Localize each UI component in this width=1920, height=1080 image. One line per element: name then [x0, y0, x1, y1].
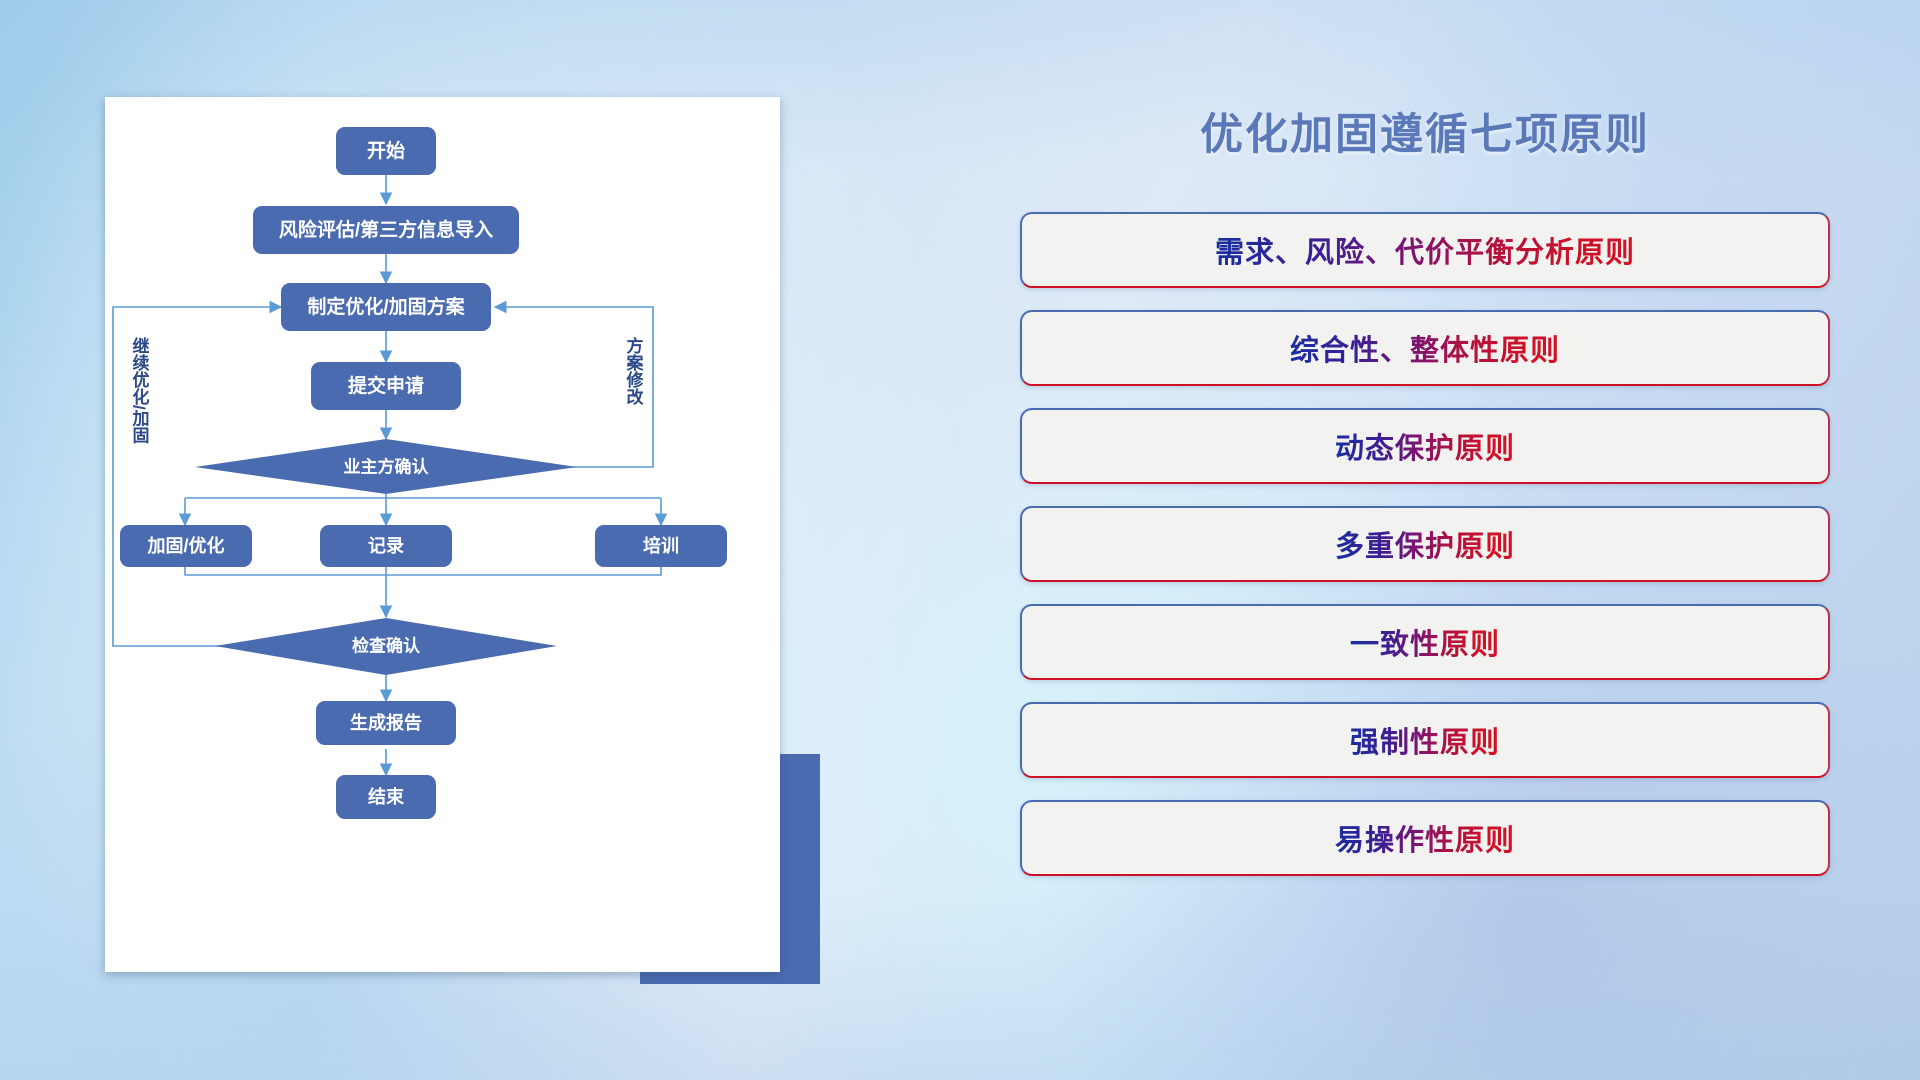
flow-node-training[interactable]: 培训 [595, 525, 727, 567]
flow-node-record[interactable]: 记录 [320, 525, 452, 567]
flow-node-risk-label: 风险评估/第三方信息导入 [279, 218, 493, 241]
principle-card[interactable]: 强制性原则 [1020, 702, 1830, 778]
flow-node-submit-label: 提交申请 [348, 374, 424, 397]
flow-node-owner-confirm-label: 业主方确认 [344, 456, 430, 476]
flow-node-reinforce[interactable]: 加固/优化 [120, 525, 252, 567]
flow-edge-label-right-loop: 方案修改 [624, 336, 645, 406]
flowchart-card: 开始 风险评估/第三方信息导入 制定优化/加固方案 提交申请 业主方确认 加固/ [105, 97, 780, 972]
flow-node-end[interactable]: 结束 [336, 775, 436, 819]
flow-node-plan-label: 制定优化/加固方案 [307, 295, 465, 318]
principle-card-label: 需求、风险、代价平衡分析原则 [1215, 229, 1635, 271]
principle-card[interactable]: 一致性原则 [1020, 604, 1830, 680]
flowchart-nodes: 开始 风险评估/第三方信息导入 制定优化/加固方案 提交申请 业主方确认 加固/ [120, 127, 727, 819]
flow-node-owner-confirm[interactable]: 业主方确认 [195, 439, 577, 494]
principles-card-list: 需求、风险、代价平衡分析原则 综合性、整体性原则 动态保护原则 多重保护原则 一… [1020, 212, 1830, 876]
flow-node-end-label: 结束 [368, 786, 405, 807]
principle-card[interactable]: 动态保护原则 [1020, 408, 1830, 484]
flow-node-start[interactable]: 开始 [336, 127, 436, 175]
principle-card[interactable]: 多重保护原则 [1020, 506, 1830, 582]
flow-node-report-label: 生成报告 [350, 712, 422, 733]
principle-card-label: 多重保护原则 [1335, 523, 1515, 565]
panel-title: 优化加固遵循七项原则 [1020, 100, 1830, 162]
principle-card[interactable]: 综合性、整体性原则 [1020, 310, 1830, 386]
principle-card-label: 动态保护原则 [1335, 425, 1515, 467]
principle-card-label: 综合性、整体性原则 [1290, 327, 1560, 369]
principle-card-label: 一致性原则 [1350, 621, 1500, 663]
flow-node-start-label: 开始 [367, 139, 405, 162]
principle-card[interactable]: 需求、风险、代价平衡分析原则 [1020, 212, 1830, 288]
principle-card-label: 易操作性原则 [1335, 817, 1515, 859]
flow-node-submit[interactable]: 提交申请 [311, 362, 461, 410]
flow-node-report[interactable]: 生成报告 [316, 701, 456, 745]
flow-node-plan[interactable]: 制定优化/加固方案 [281, 283, 491, 331]
flow-edge-label-left-loop: 继续优化/加固 [130, 336, 151, 445]
flow-node-risk[interactable]: 风险评估/第三方信息导入 [253, 206, 519, 254]
principle-card[interactable]: 易操作性原则 [1020, 800, 1830, 876]
flow-node-reinforce-label: 加固/优化 [146, 535, 224, 556]
principles-panel: 优化加固遵循七项原则 需求、风险、代价平衡分析原则 综合性、整体性原则 动态保护… [1020, 90, 1830, 1000]
flow-node-check-label: 检查确认 [352, 635, 421, 655]
flow-node-training-label: 培训 [643, 535, 679, 556]
flow-node-record-label: 记录 [368, 536, 404, 556]
flow-node-check[interactable]: 检查确认 [215, 618, 557, 675]
principle-card-label: 强制性原则 [1350, 719, 1500, 761]
flowchart-diagram: 开始 风险评估/第三方信息导入 制定优化/加固方案 提交申请 业主方确认 加固/ [105, 97, 780, 972]
